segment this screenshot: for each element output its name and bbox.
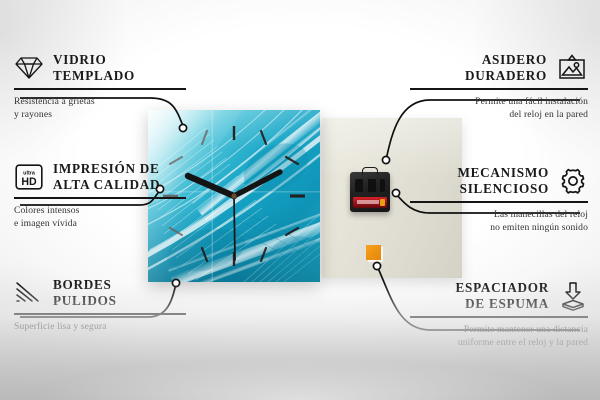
mechanism-slots [355,179,385,192]
feature-vidrio-templado: VIDRIO TEMPLADO Resistencia a grietas y … [14,52,186,122]
feature-desc-line2: del reloj en la pared [410,108,588,122]
foam-spacer [366,245,381,260]
feature-title-line1: ASIDERO [465,52,547,68]
feature-title-line2: TEMPLADO [53,68,135,84]
feature-title-line2: SILENCIOSO [457,181,549,197]
feature-divider [410,316,588,318]
clock-mechanism-box [350,172,390,212]
feature-asidero-duradero: ASIDERO DURADERO Permite una fácil insta… [410,52,588,122]
second-hand [234,196,235,260]
feature-title: VIDRIO TEMPLADO [53,52,135,84]
infographic-stage: VIDRIO TEMPLADO Resistencia a grietas y … [0,0,600,400]
feature-description: Permite mantener una distancia uniforme … [410,323,588,350]
feature-desc-line2: y rayones [14,108,186,122]
ultra-hd-icon-main-label: HD [21,176,37,188]
feature-description: Superficie lisa y segura [14,320,186,334]
feature-desc-line1: Permite mantener una distancia [410,323,588,337]
gear-icon [558,167,588,195]
hanger-loop-icon [362,167,378,175]
feature-description: Permite una fácil instalación del reloj … [410,95,588,122]
minute-hand [234,172,280,196]
feature-header: ESPACIADOR DE ESPUMA [410,280,588,312]
feature-title: MECANISMO SILENCIOSO [457,165,549,197]
feature-desc-line2: uniforme entre el reloj y la pared [410,336,588,350]
feature-header: ASIDERO DURADERO [410,52,588,84]
feature-title-line2: DE ESPUMA [456,296,549,312]
feature-desc-line1: Permite una fácil instalación [410,95,588,109]
feature-title: IMPRESIÓN DE ALTA CALIDAD [53,161,160,193]
feature-desc-line2: no emiten ningún sonido [410,221,588,235]
feature-description: Colores intensos e imagen vívida [14,204,186,231]
hands-hub [231,193,236,198]
feature-title-line2: ALTA CALIDAD [53,177,160,193]
hour-hand [188,176,234,196]
feature-bordes-pulidos: BORDES PULIDOS Superficie lisa y segura [14,277,186,333]
hanging-picture-icon [556,54,588,82]
feature-desc-line2: e imagen vívida [14,217,186,231]
feature-divider [14,313,186,315]
battery [353,197,387,208]
feature-description: Resistencia a grietas y rayones [14,95,186,122]
feature-mecanismo-silencioso: MECANISMO SILENCIOSO Las manecillas del … [410,165,588,235]
feature-title-line2: PULIDOS [53,293,117,309]
feature-title-line1: VIDRIO [53,52,135,68]
ultra-hd-icon: ultra HD [14,163,44,191]
feature-desc-line1: Colores intensos [14,204,186,218]
feature-divider [14,197,186,199]
feature-title-line1: MECANISMO [457,165,549,181]
feature-divider [410,88,588,90]
diamond-icon [14,55,44,81]
feature-header: VIDRIO TEMPLADO [14,52,186,84]
feature-divider [14,88,186,90]
feature-desc-line1: Resistencia a grietas [14,95,186,109]
feature-title: ESPACIADOR DE ESPUMA [456,280,549,312]
feature-espaciador-de-espuma: ESPACIADOR DE ESPUMA Permite mantener un… [410,280,588,350]
feature-description: Las manecillas del reloj no emiten ningú… [410,208,588,235]
feature-desc-line1: Superficie lisa y segura [14,320,186,334]
press-down-layers-icon [558,281,588,311]
feature-header: MECANISMO SILENCIOSO [410,165,588,197]
feature-desc-line1: Las manecillas del reloj [410,208,588,222]
feature-header: ultra HD IMPRESIÓN DE ALTA CALIDAD [14,161,186,193]
feature-title-line2: DURADERO [465,68,547,84]
feature-title: BORDES PULIDOS [53,277,117,309]
feature-title: ASIDERO DURADERO [465,52,547,84]
feature-title-line1: ESPACIADOR [456,280,549,296]
feature-header: BORDES PULIDOS [14,277,186,309]
feature-impresion-alta-calidad: ultra HD IMPRESIÓN DE ALTA CALIDAD Color… [14,161,186,231]
feature-divider [410,201,588,203]
feature-title-line1: BORDES [53,277,117,293]
feature-title-line1: IMPRESIÓN DE [53,161,160,177]
polished-edge-icon [14,280,44,306]
